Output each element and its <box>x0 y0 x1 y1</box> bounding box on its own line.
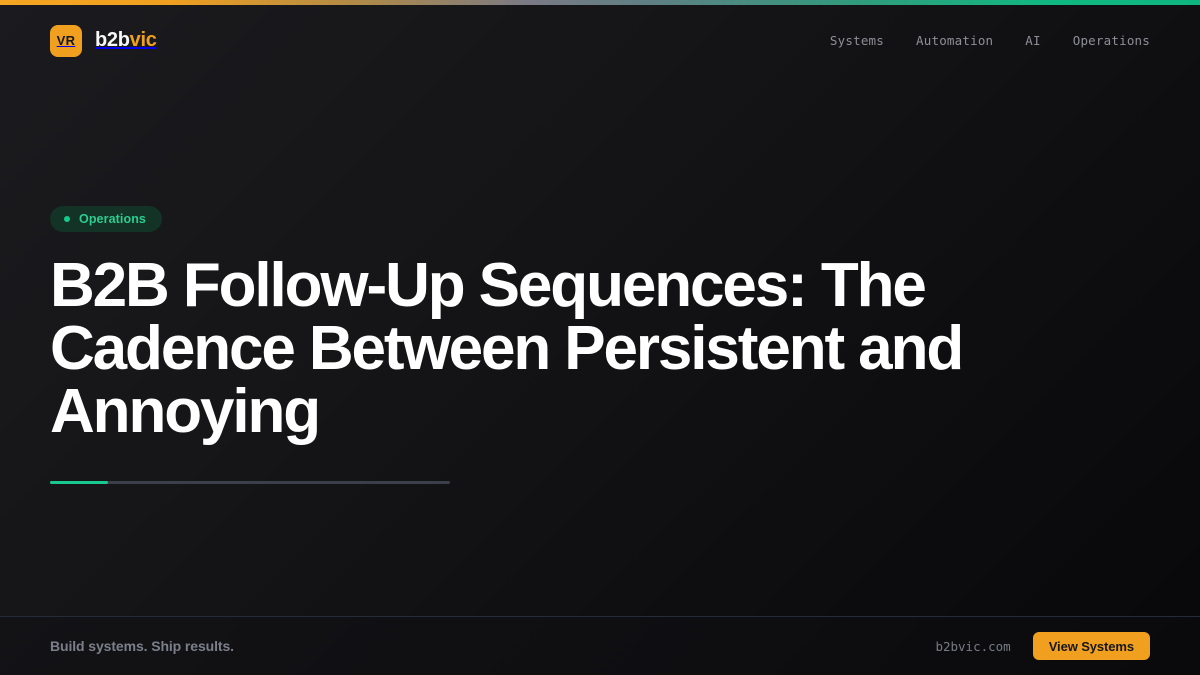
footer-tagline: Build systems. Ship results. <box>50 638 234 654</box>
footer-actions: b2bvic.com View Systems <box>935 632 1150 660</box>
nav-item-systems[interactable]: Systems <box>830 33 884 48</box>
brand-logo[interactable]: VR b2bvic <box>50 25 157 57</box>
site-header: VR b2bvic Systems Automation AI Operatio… <box>0 0 1200 76</box>
hero-section: Operations B2B Follow-Up Sequences: The … <box>50 206 1150 484</box>
nav-item-automation[interactable]: Automation <box>916 33 993 48</box>
nav-item-ai[interactable]: AI <box>1025 33 1040 48</box>
landing-page: VR b2bvic Systems Automation AI Operatio… <box>0 0 1200 675</box>
category-badge[interactable]: Operations <box>50 206 162 232</box>
category-badge-label: Operations <box>79 212 146 226</box>
status-dot-icon <box>64 216 70 222</box>
brand-wordmark: b2bvic <box>95 29 157 52</box>
page-title: B2B Follow-Up Sequences: The Cadence Bet… <box>50 254 1040 443</box>
site-footer: Build systems. Ship results. b2bvic.com … <box>0 616 1200 675</box>
brand-name-primary: b2b <box>95 29 130 52</box>
footer-domain: b2bvic.com <box>935 639 1010 654</box>
accent-divider <box>50 481 450 484</box>
nav-item-operations[interactable]: Operations <box>1073 33 1150 48</box>
brand-mark-icon: VR <box>50 25 82 57</box>
view-systems-button[interactable]: View Systems <box>1033 632 1150 660</box>
brand-mark-text: VR <box>57 33 76 48</box>
main-navigation: Systems Automation AI Operations <box>830 33 1150 48</box>
brand-name-accent: vic <box>130 29 157 52</box>
